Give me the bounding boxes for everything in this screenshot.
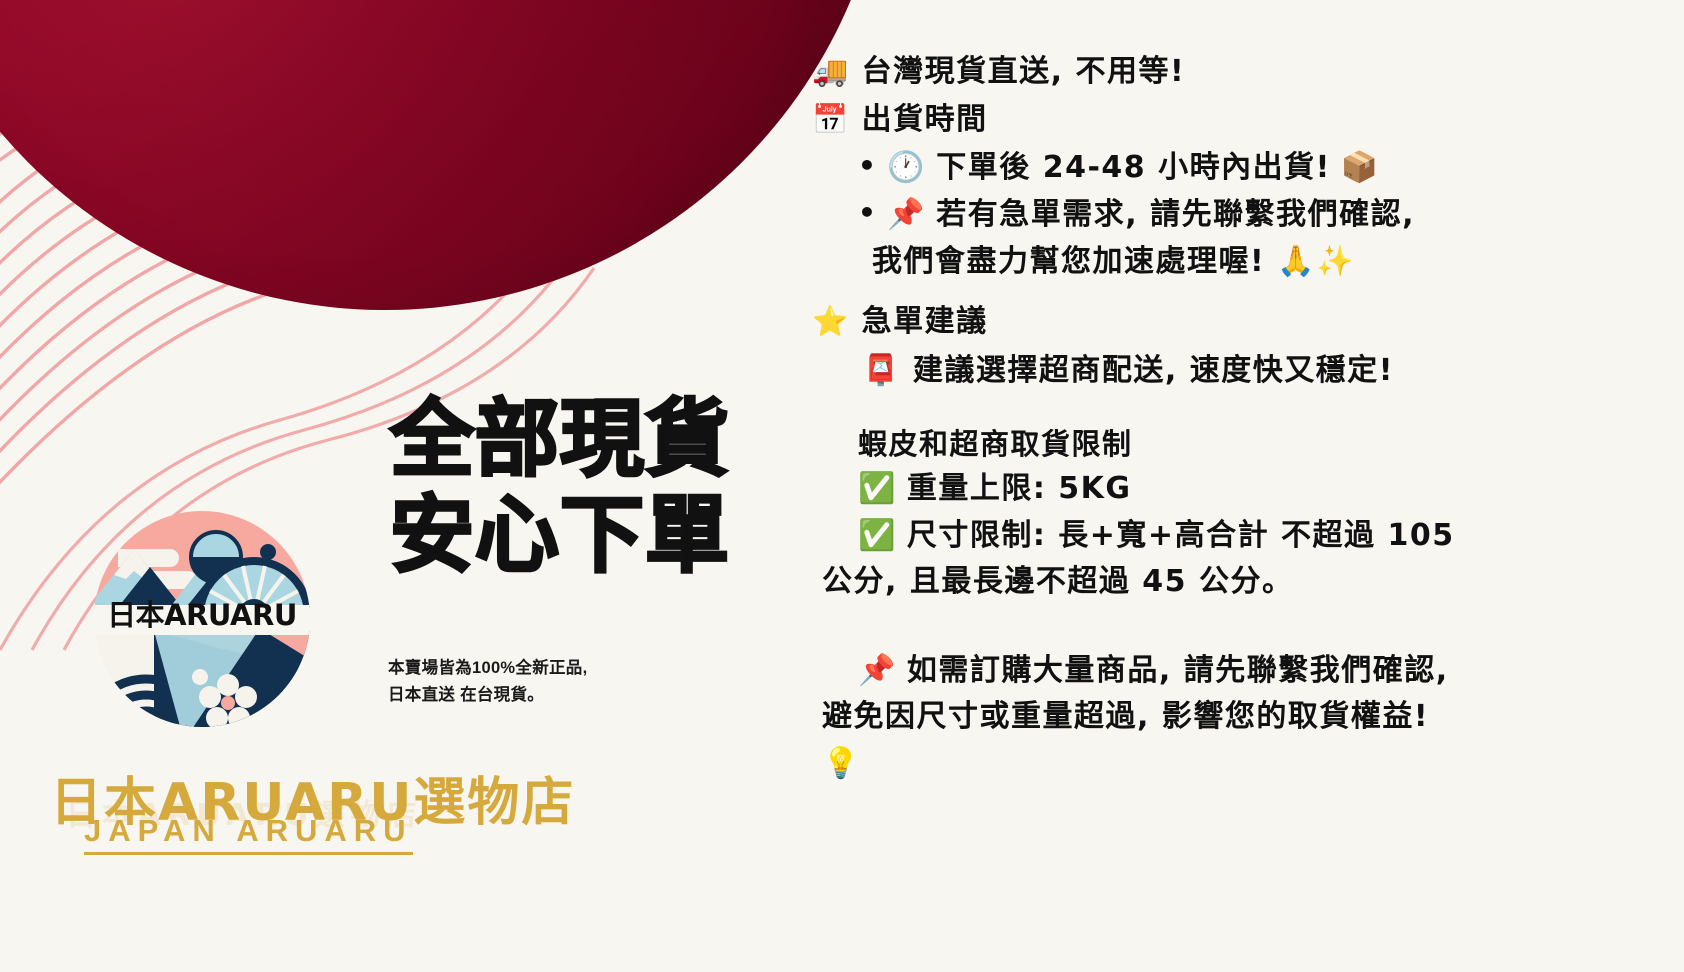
pickup-limits-title: 蝦皮和超商取貨限制 bbox=[858, 423, 1672, 467]
list-item-text: 若有急單需求, 請先聯繫我們確認, bbox=[936, 192, 1415, 237]
list-item: • 🕐 下單後 24-48 小時內出貨! 📦 bbox=[858, 145, 1672, 190]
package-box-icon: 📦 bbox=[1341, 145, 1380, 190]
pickup-limit-item-text: 重量上限: 5KG bbox=[907, 466, 1132, 513]
shipping-time-heading-text: 出貨時間 bbox=[862, 98, 1672, 142]
info-column: 🚚 台灣現貨直送, 不用等! 📅 出貨時間 • 🕐 下單後 24-48 小時內出… bbox=[812, 50, 1672, 787]
pickup-limit-item-text: 尺寸限制: 長+寬+高合計 不超過 105 bbox=[907, 513, 1455, 560]
promo-banner: 全部現貨 安心下單 本賣場皆為100%全新正品, 日本直送 在台現貨。 bbox=[0, 0, 1684, 972]
dome-shading-overlay bbox=[0, 0, 890, 310]
check-mark-button-icon: ✅ bbox=[858, 513, 897, 560]
postbox-icon: 📮 bbox=[862, 348, 901, 393]
list-item-continuation-text: 我們會盡力幫您加速處理喔! bbox=[872, 244, 1265, 279]
bulk-order-note-continuation: 避免因尺寸或重量超過, 影響您的取貨權益! bbox=[822, 694, 1672, 741]
crimson-dome-shape bbox=[0, 0, 890, 310]
fine-print-line-1: 本賣場皆為100%全新正品, bbox=[388, 655, 588, 682]
spacer bbox=[812, 606, 1672, 648]
urgent-order-detail-text: 建議選擇超商配送, 速度快又穩定! bbox=[913, 348, 1394, 393]
urgent-order-detail: 📮 建議選擇超商配送, 速度快又穩定! bbox=[862, 348, 1672, 393]
star-icon: ⭐ bbox=[812, 300, 850, 342]
list-item-continuation: 我們會盡力幫您加速處理喔! 🙏✨ bbox=[872, 239, 1672, 284]
spacer bbox=[812, 393, 1672, 423]
urgent-order-heading-text: 急單建議 bbox=[862, 300, 1672, 344]
clock-icon: 🕐 bbox=[887, 145, 926, 190]
list-item: • 📌 若有急單需求, 請先聯繫我們確認, bbox=[858, 192, 1672, 237]
urgent-order-heading: ⭐ 急單建議 bbox=[812, 300, 1672, 344]
shipping-headline-text: 台灣現貨直送, 不用等! bbox=[862, 50, 1672, 94]
list-item-text: 下單後 24-48 小時內出貨! bbox=[936, 145, 1331, 190]
pickup-limit-item-continuation: 公分, 且最長邊不超過 45 公分。 bbox=[822, 559, 1672, 606]
page-title: 全部現貨 安心下單 bbox=[390, 392, 790, 584]
delivery-truck-icon: 🚚 bbox=[812, 50, 850, 92]
bulk-order-note: 📌 如需訂購大量商品, 請先聯繫我們確認, bbox=[858, 648, 1672, 695]
headline-line-2: 安心下單 bbox=[390, 488, 790, 584]
headline-line-1: 全部現貨 bbox=[390, 392, 790, 488]
fine-print: 本賣場皆為100%全新正品, 日本直送 在台現貨。 bbox=[388, 655, 588, 708]
praying-hands-sparkles-icon: 🙏✨ bbox=[1277, 244, 1355, 279]
pickup-limit-item: ✅ 重量上限: 5KG bbox=[858, 466, 1672, 513]
check-mark-button-icon: ✅ bbox=[858, 466, 897, 513]
calendar-icon: 📅 bbox=[812, 98, 850, 140]
brand-name-english: JAPAN ARUARU bbox=[84, 813, 413, 855]
pushpin-icon: 📌 bbox=[858, 648, 897, 695]
pushpin-icon: 📌 bbox=[887, 192, 926, 237]
logo-wordmark: 日本ARUARU bbox=[88, 592, 316, 634]
shipping-headline: 🚚 台灣現貨直送, 不用等! bbox=[812, 50, 1672, 94]
bullet-dot: • bbox=[858, 192, 877, 234]
bulk-order-note-text: 如需訂購大量商品, 請先聯繫我們確認, bbox=[907, 648, 1449, 695]
pickup-limit-item: ✅ 尺寸限制: 長+寬+高合計 不超過 105 bbox=[858, 513, 1672, 560]
light-bulb-icon: 💡 bbox=[822, 741, 1672, 788]
fine-print-line-2: 日本直送 在台現貨。 bbox=[388, 682, 588, 709]
shipping-time-heading: 📅 出貨時間 bbox=[812, 98, 1672, 142]
bullet-dot: • bbox=[858, 145, 877, 187]
spacer bbox=[812, 284, 1672, 300]
